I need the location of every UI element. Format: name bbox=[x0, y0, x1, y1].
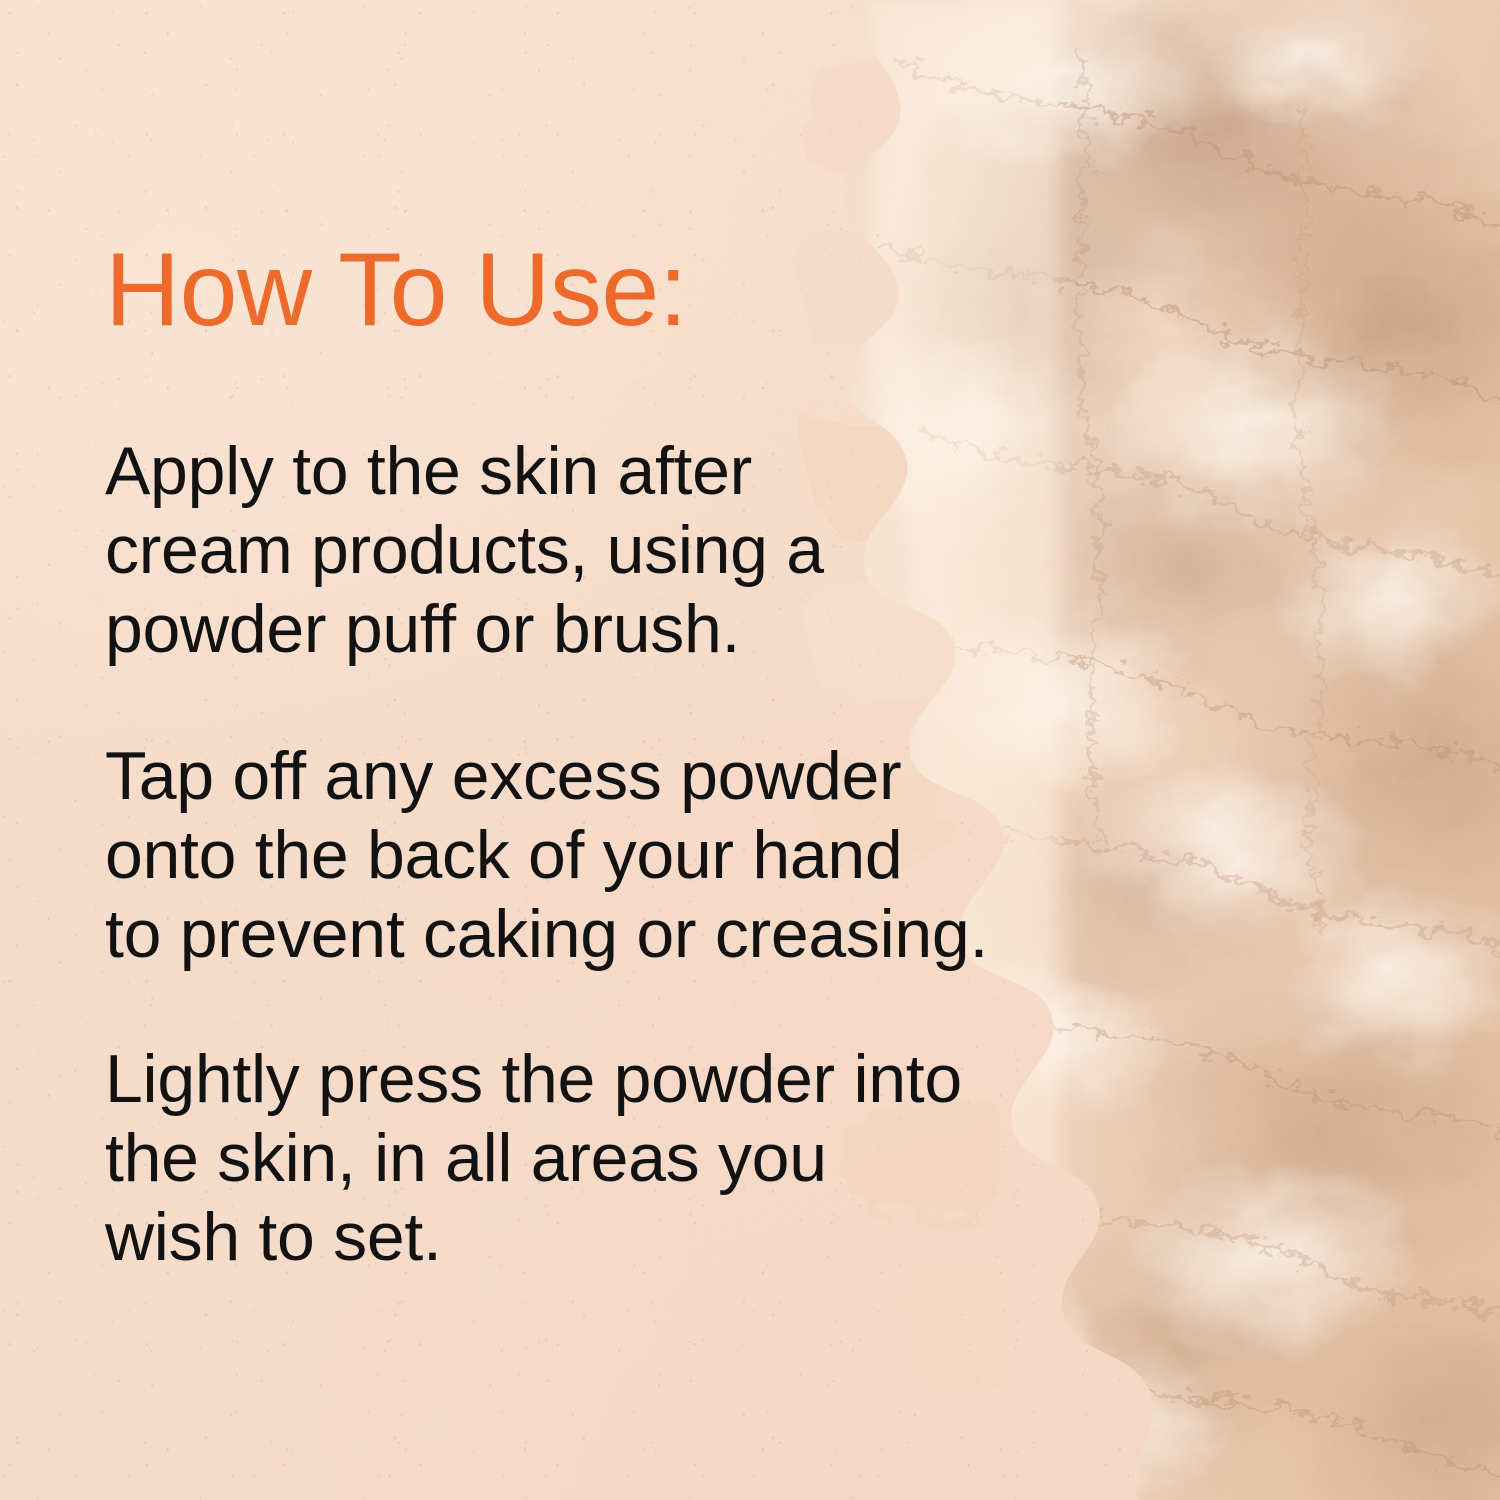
instruction-step-3: Lightly press the powder into the skin, … bbox=[105, 1040, 962, 1277]
instruction-step-2: Tap off any excess powder onto the back … bbox=[105, 737, 988, 974]
product-instruction-card: How To Use: Apply to the skin after crea… bbox=[0, 0, 1500, 1500]
instruction-text-column: How To Use: Apply to the skin after crea… bbox=[105, 0, 1005, 1500]
page-title: How To Use: bbox=[105, 236, 687, 345]
instruction-step-1: Apply to the skin after cream products, … bbox=[105, 432, 824, 669]
